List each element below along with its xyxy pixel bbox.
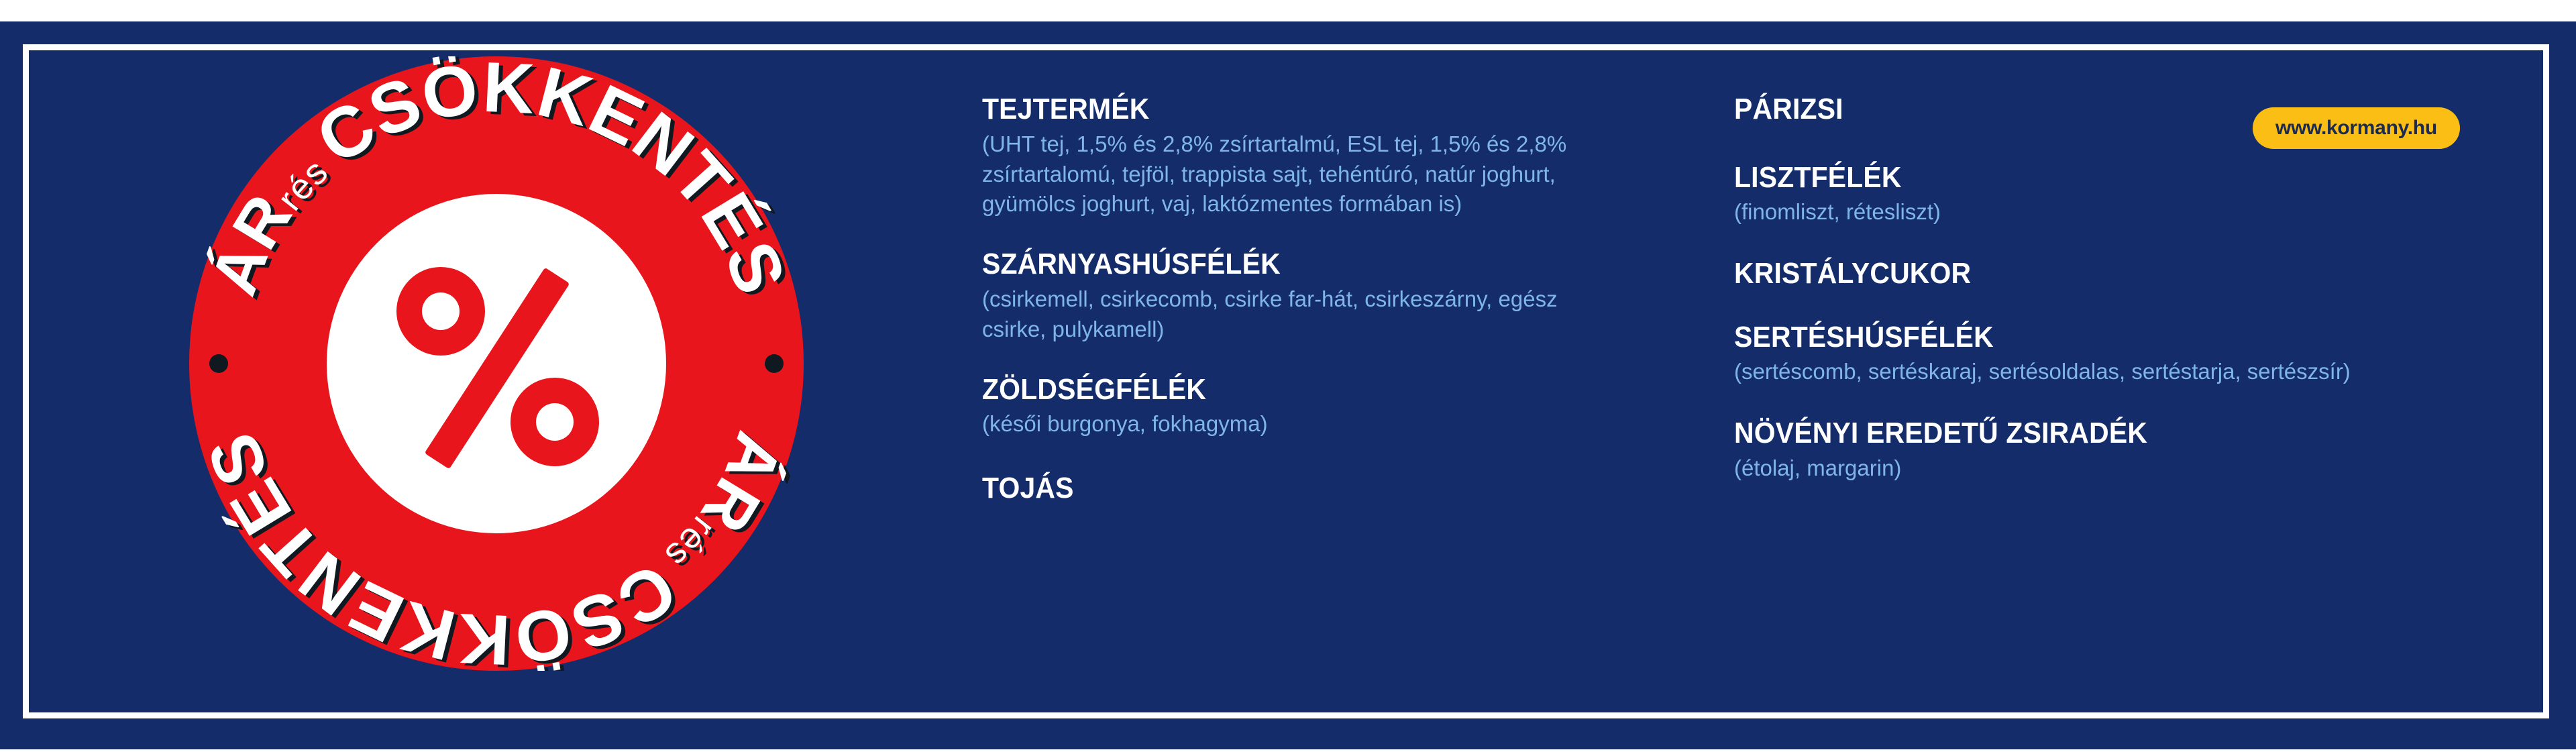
url-badge-label: www.kormany.hu [2275,117,2437,140]
product-group: LISZTFÉLÉK (finomliszt, rétesliszt) [1734,162,2405,228]
category-title: ZÖLDSÉGFÉLÉK [982,374,1581,406]
category-description: (sertéscomb, sertéskaraj, sertésoldalas,… [1734,357,2365,387]
product-group: SERTÉSHÚSFÉLÉK (sertéscomb, sertéskaraj,… [1734,322,2405,388]
category-title: KRISTÁLYCUKOR [1734,258,2358,290]
product-group: NÖVÉNYI EREDETŰ ZSIRADÉK (étolaj, margar… [1734,418,2405,484]
category-title: TEJTERMÉK [982,94,1581,125]
product-group: TOJÁS [982,473,1626,504]
product-group: ZÖLDSÉGFÉLÉK (késői burgonya, fokhagyma) [982,374,1626,440]
product-group: KRISTÁLYCUKOR [1734,258,2405,290]
category-description: (késői burgonya, fokhagyma) [982,409,1572,439]
promo-banner: ÁRrés CSÖKKENTÉS ÁRrés CSÖKKENTÉS ÁRrés … [0,21,2576,749]
category-description: (UHT tej, 1,5% és 2,8% zsírtartalmú, ESL… [982,129,1572,220]
category-title: TOJÁS [982,473,1581,504]
product-column-right: PÁRIZSI LISZTFÉLÉK (finomliszt, réteslis… [1734,21,2405,484]
category-description: (étolaj, margarin) [1734,453,2365,484]
seal-dot-left [209,354,228,373]
product-group: TEJTERMÉK (UHT tej, 1,5% és 2,8% zsírtar… [982,94,1626,219]
kormany-url-badge[interactable]: www.kormany.hu [2253,107,2460,149]
category-title: LISZTFÉLÉK [1734,162,2358,194]
category-title: SZÁRNYASHÚSFÉLÉK [982,249,1581,280]
seal-graphic: ÁRrés CSÖKKENTÉS ÁRrés CSÖKKENTÉS ÁRrés … [189,56,804,671]
seal-dot-right [765,354,784,373]
category-description: (csirkemell, csirkecomb, csirke far-hát,… [982,284,1572,345]
product-column-middle: TEJTERMÉK (UHT tej, 1,5% és 2,8% zsírtar… [982,21,1626,504]
category-description: (finomliszt, rétesliszt) [1734,197,2365,227]
product-group: SZÁRNYASHÚSFÉLÉK (csirkemell, csirkecomb… [982,249,1626,344]
category-title: NÖVÉNYI EREDETŰ ZSIRADÉK [1734,418,2358,449]
price-reduction-seal: ÁRrés CSÖKKENTÉS ÁRrés CSÖKKENTÉS ÁRrés … [189,56,804,671]
category-title: SERTÉSHÚSFÉLÉK [1734,322,2358,354]
